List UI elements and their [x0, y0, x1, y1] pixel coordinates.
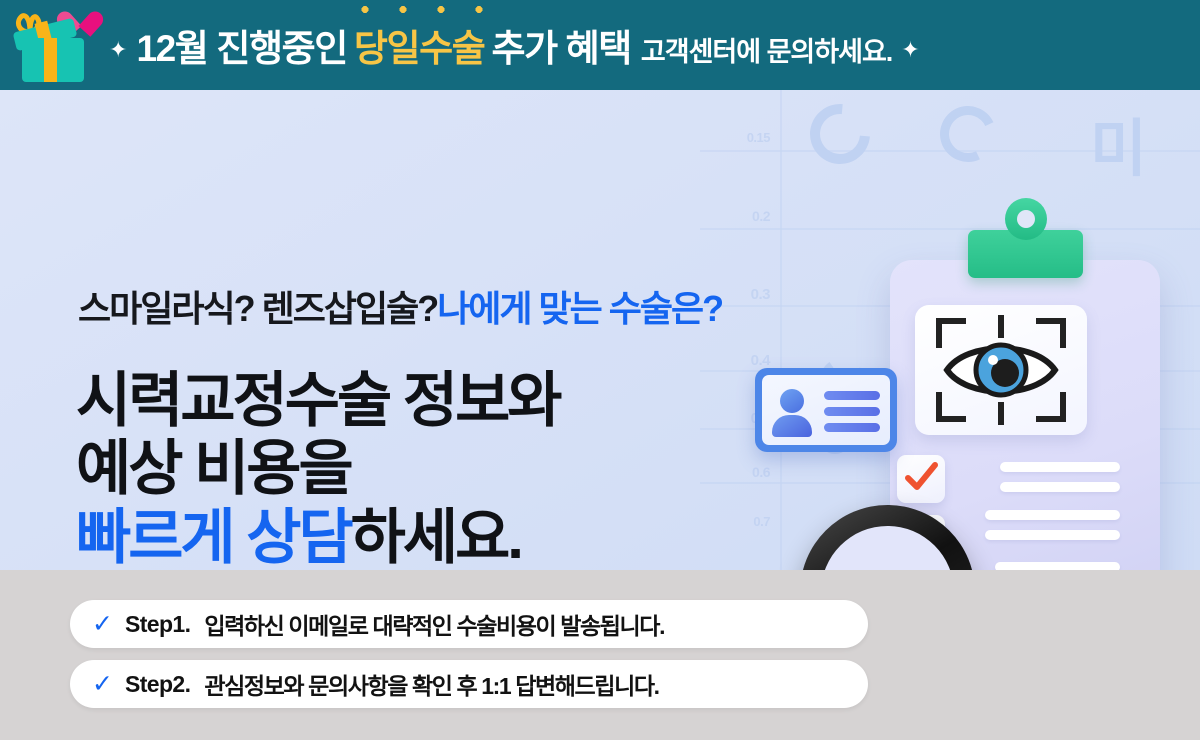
step-description: 관심정보와 문의사항을 확인 후 1:1 답변해드립니다.	[204, 667, 658, 701]
clipboard-clip-ring	[1005, 198, 1047, 240]
check-mark-icon	[902, 459, 940, 497]
eye-scan-card	[915, 305, 1087, 435]
acuity-value: 0.15	[706, 130, 770, 145]
subtitle-plain: 스마일라식? 렌즈삽입술?	[78, 288, 437, 329]
person-body-icon	[772, 415, 812, 437]
title-line-1: 시력교정수술 정보와	[76, 367, 559, 435]
person-head-icon	[780, 389, 804, 413]
promo-part2: 추가 혜택	[491, 18, 630, 72]
eye-chart-letter: 미	[1090, 98, 1146, 188]
document-line	[1000, 462, 1120, 472]
landolt-c-icon	[798, 92, 883, 177]
id-card-line	[824, 391, 880, 400]
step-item-1[interactable]: ✓ Step1. 입력하신 이메일로 대략적인 수술비용이 발송됩니다.	[70, 600, 868, 648]
promo-header-text: ✦ 12월 진행중인 당일수술 추가 혜택 고객센터에 문의하세요. ✦	[100, 18, 929, 72]
promo-header-bar[interactable]: ✦ 12월 진행중인 당일수술 추가 혜택 고객센터에 문의하세요. ✦	[0, 0, 1200, 90]
step-item-2[interactable]: ✓ Step2. 관심정보와 문의사항을 확인 후 1:1 답변해드립니다.	[70, 660, 868, 708]
promo-banner: ✦ 12월 진행중인 당일수술 추가 혜택 고객센터에 문의하세요. ✦ 0.1…	[0, 0, 1200, 740]
magnifier-lens	[800, 505, 975, 570]
promo-part1: 12월 진행중인	[136, 18, 346, 72]
title-line-2: 예상 비용을	[76, 435, 559, 503]
gift-box-icon	[0, 0, 104, 90]
id-card-line	[824, 423, 880, 432]
acuity-value: 0.2	[706, 208, 770, 224]
id-card-inner	[762, 375, 890, 445]
id-card-icon	[755, 368, 897, 452]
step-description: 입력하신 이메일로 대략적인 수술비용이 발송됩니다.	[204, 607, 664, 641]
document-line	[1000, 482, 1120, 492]
hero-stage: 0.15 0.2 0.3 0.4 0.5 0.6 0.7 미 므 우 기 브 노…	[0, 90, 1200, 570]
title-line-3-highlight: 빠르게 상담	[76, 504, 351, 570]
check-icon: ✓	[92, 612, 113, 637]
title-line-3-plain: 하세요.	[351, 504, 521, 570]
acuity-value: 0.4	[706, 352, 770, 369]
promo-highlight: 당일수술	[354, 18, 485, 72]
step-label: Step1.	[125, 611, 190, 638]
document-line	[995, 562, 1120, 570]
id-card-line	[824, 407, 880, 416]
eye-scan-icon	[933, 315, 1069, 430]
promo-tail: 고객센터에 문의하세요.	[641, 30, 892, 69]
checkbox-item[interactable]	[897, 455, 945, 503]
title-line-3: 빠르게 상담하세요.	[76, 504, 559, 570]
landolt-c-icon	[932, 98, 1004, 170]
acuity-value: 0.7	[706, 514, 770, 529]
page-subtitle: 스마일라식? 렌즈삽입술?나에게 맞는 수술은?	[78, 280, 722, 332]
magnifier-icon	[800, 505, 1010, 570]
steps-band: ✓ Step1. 입력하신 이메일로 대략적인 수술비용이 발송됩니다. ✓ S…	[0, 570, 1200, 740]
step-label: Step2.	[125, 671, 190, 698]
subtitle-highlight: 나에게 맞는 수술은?	[437, 288, 722, 329]
check-icon: ✓	[92, 672, 113, 697]
acuity-value: 0.6	[706, 464, 770, 480]
page-title: 시력교정수술 정보와 예상 비용을 빠르게 상담하세요.	[76, 367, 559, 570]
sparkle-icon-right: ✦	[901, 39, 919, 61]
sparkle-icon: ✦	[109, 39, 127, 61]
gift-body-ribbon	[44, 38, 57, 82]
